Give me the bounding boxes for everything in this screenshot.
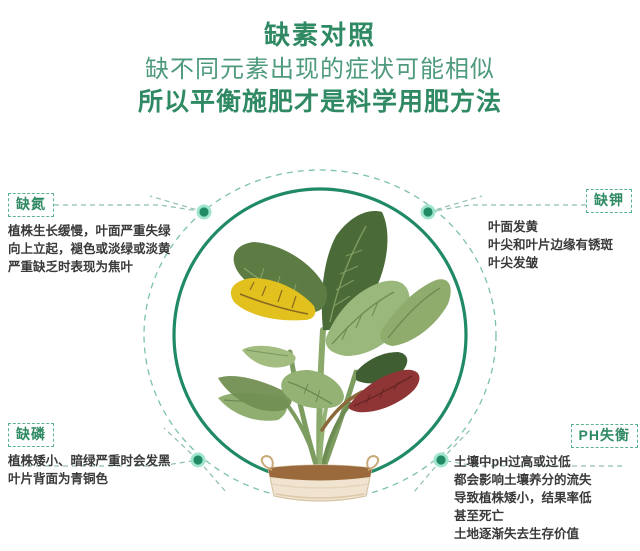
potassium-symptom-list: 叶面发黄 叶尖和叶片边缘有锈斑 叶尖发皱 xyxy=(480,218,632,272)
leaf-small-left xyxy=(242,346,296,368)
ph-symptom-list: 土壤中pH过高或过低 都会影响土壤养分的流失 导致植株矮小，结果率低 甚至死亡 … xyxy=(452,453,638,543)
list-item: 叶片背面为青铜色 xyxy=(8,470,171,488)
tag-phosphorus: 缺磷 xyxy=(8,423,54,447)
list-item: 叶尖发皱 xyxy=(480,254,632,272)
list-item: 土地逐渐失去生存价值 xyxy=(452,525,638,543)
tag-potassium: 缺钾 xyxy=(586,189,632,213)
list-item: 甚至死亡 xyxy=(452,507,638,525)
list-item: 严重缺乏时表现为焦叶 xyxy=(8,258,171,276)
callout-nitrogen: 缺氮 植株生长缓慢，叶面严重失绿 向上立起，褪色或淡绿或淡黄 严重缺乏时表现为焦… xyxy=(8,193,171,276)
list-item: 导致植株矮小，结果率低 xyxy=(452,489,638,507)
phosphorus-symptom-list: 植株矮小、暗绿严重时会发黑 叶片背面为青铜色 xyxy=(8,452,171,488)
callout-phosphorus: 缺磷 植株矮小、暗绿严重时会发黑 叶片背面为青铜色 xyxy=(8,423,171,488)
list-item: 叶尖和叶片边缘有锈斑 xyxy=(480,236,632,254)
node-top-right xyxy=(421,205,436,220)
callout-potassium: 缺钾 叶面发黄 叶尖和叶片边缘有锈斑 叶尖发皱 xyxy=(480,189,632,272)
node-bottom-right xyxy=(434,453,449,468)
node-bottom-left xyxy=(191,453,206,468)
list-item: 叶面发黄 xyxy=(480,218,632,236)
list-item: 植株矮小、暗绿严重时会发黑 xyxy=(8,452,171,470)
list-item: 植株生长缓慢，叶面严重失绿 xyxy=(8,222,171,240)
callout-ph: PH失衡 土壤中pH过高或过低 都会影响土壤养分的流失 导致植株矮小，结果率低 … xyxy=(452,424,638,543)
node-top-left xyxy=(197,205,212,220)
potted-plant-illustration xyxy=(218,211,451,501)
list-item: 土壤中pH过高或过低 xyxy=(452,453,638,471)
list-item: 向上立起，褪色或淡绿或淡黄 xyxy=(8,240,171,258)
tag-ph: PH失衡 xyxy=(571,424,638,448)
nitrogen-symptom-list: 植株生长缓慢，叶面严重失绿 向上立起，褪色或淡绿或淡黄 严重缺乏时表现为焦叶 xyxy=(8,222,171,276)
tag-nitrogen: 缺氮 xyxy=(8,193,54,217)
list-item: 都会影响土壤养分的流失 xyxy=(452,471,638,489)
infographic-root: 缺素对照 缺不同元素出现的症状可能相似 所以平衡施肥才是科学用肥方法 xyxy=(0,0,640,551)
